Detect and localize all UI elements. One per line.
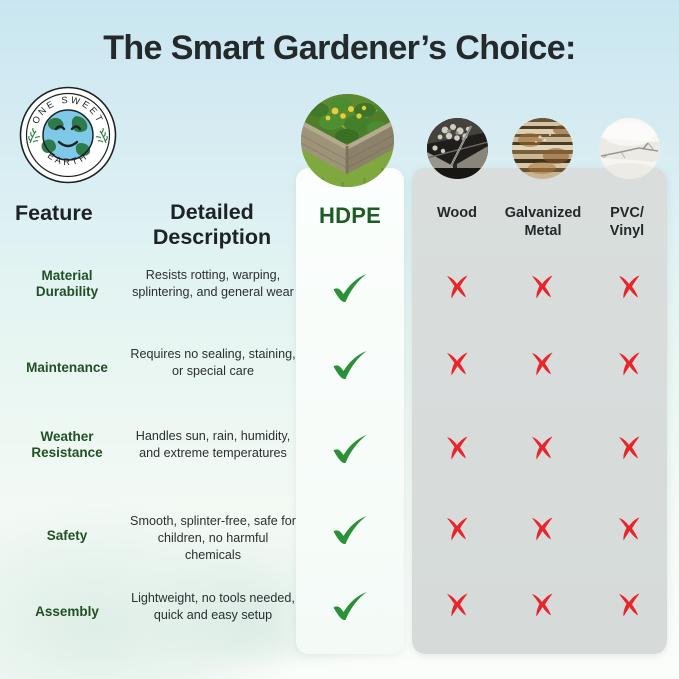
feature-description-material-durability: Resists rotting, warping, splintering, a… — [130, 267, 296, 301]
column-header-galvanized-metal-line2: Metal — [497, 223, 589, 241]
feature-name-safety: Safety — [6, 528, 128, 544]
check-mark-icon — [330, 272, 370, 306]
competitors-column-panel — [412, 168, 667, 654]
cross-mark-icon — [444, 591, 470, 617]
check-mark-icon — [330, 590, 370, 624]
cross-mark-icon — [616, 591, 642, 617]
hdpe-column-panel — [296, 168, 404, 654]
rusty-metal-photo — [512, 118, 573, 179]
rotting-wood-photo — [427, 118, 488, 179]
cross-mark-icon — [616, 350, 642, 376]
infographic-canvas: The Smart Gardener’s Choice: — [0, 0, 679, 679]
cross-mark-icon — [444, 515, 470, 541]
feature-description-weather-resistance: Handles sun, rain, humidity, and extreme… — [130, 428, 296, 462]
cross-mark-icon — [444, 350, 470, 376]
header-feature: Feature — [8, 201, 128, 226]
feature-name-material-durability: Material Durability — [6, 268, 128, 301]
feature-name-line2: Resistance — [6, 445, 128, 461]
feature-name-line1: Maintenance — [6, 360, 128, 376]
page-title: The Smart Gardener’s Choice: — [0, 29, 679, 68]
column-header-galvanized-metal: Galvanized Metal — [497, 205, 589, 240]
check-mark-icon — [330, 433, 370, 467]
one-sweet-earth-logo: ONE SWEET EARTH — [18, 85, 118, 185]
check-mark-icon — [330, 349, 370, 383]
cross-mark-icon — [444, 434, 470, 460]
feature-description-assembly: Lightweight, no tools needed, quick and … — [130, 590, 296, 624]
header-detailed-description-line1: Detailed — [132, 200, 292, 225]
check-mark-icon — [330, 514, 370, 548]
header-detailed-description-line2: Description — [132, 225, 292, 250]
cross-mark-icon — [529, 350, 555, 376]
feature-name-assembly: Assembly — [6, 604, 128, 620]
cross-mark-icon — [616, 434, 642, 460]
raised-garden-bed-photo — [301, 94, 394, 187]
column-header-pvc-vinyl-line1: PVC/ — [586, 205, 668, 223]
cross-mark-icon — [529, 591, 555, 617]
feature-name-line1: Weather — [6, 429, 128, 445]
feature-name-line1: Safety — [6, 528, 128, 544]
cross-mark-icon — [529, 515, 555, 541]
column-header-wood: Wood — [412, 205, 502, 223]
feature-description-maintenance: Requires no sealing, staining, or specia… — [130, 346, 296, 380]
column-header-pvc-vinyl: PVC/ Vinyl — [586, 205, 668, 240]
feature-description-safety: Smooth, splinter-free, safe for children… — [130, 513, 296, 564]
feature-name-line1: Material — [6, 268, 128, 284]
feature-name-weather-resistance: Weather Resistance — [6, 429, 128, 462]
feature-name-maintenance: Maintenance — [6, 360, 128, 376]
column-header-hdpe: HDPE — [296, 203, 404, 230]
feature-name-line2: Durability — [6, 284, 128, 300]
column-header-pvc-vinyl-line2: Vinyl — [586, 223, 668, 241]
cross-mark-icon — [529, 434, 555, 460]
cross-mark-icon — [616, 273, 642, 299]
header-detailed-description: Detailed Description — [132, 200, 292, 251]
cross-mark-icon — [529, 273, 555, 299]
cross-mark-icon — [444, 273, 470, 299]
feature-name-line1: Assembly — [6, 604, 128, 620]
cross-mark-icon — [616, 515, 642, 541]
cracked-pvc-photo — [599, 118, 660, 179]
column-header-galvanized-metal-line1: Galvanized — [497, 205, 589, 223]
